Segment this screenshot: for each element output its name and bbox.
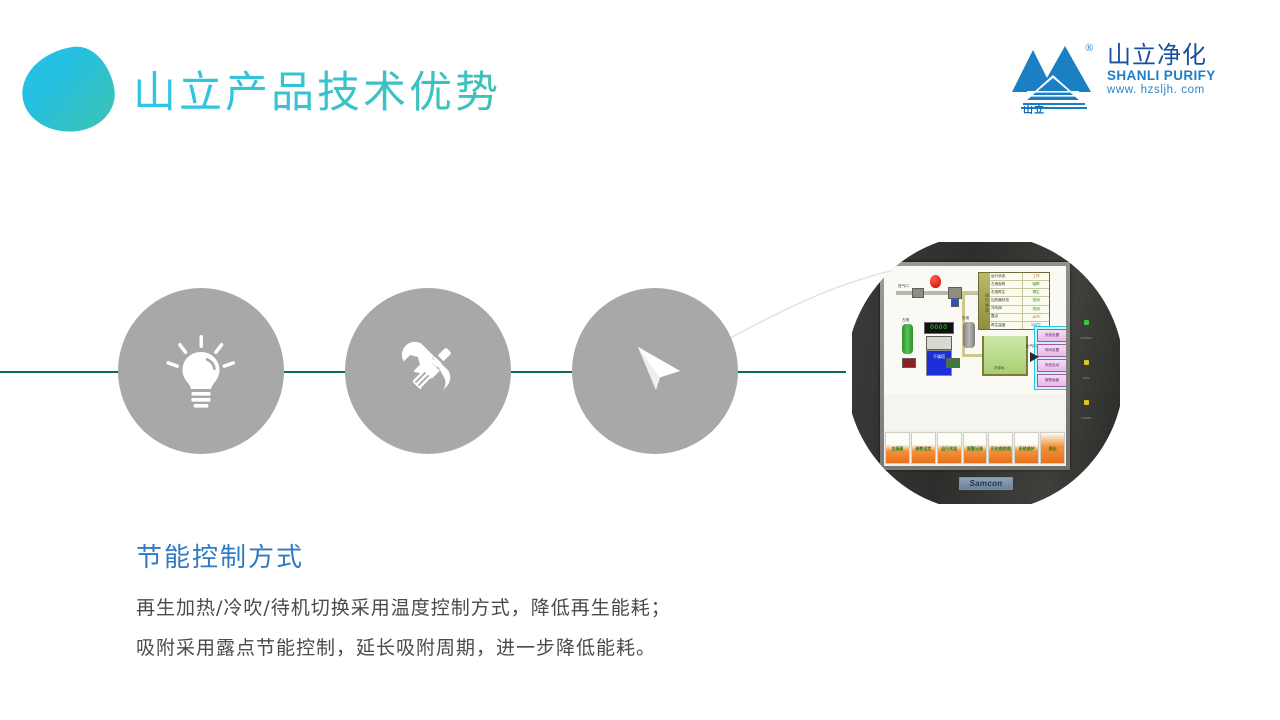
lcd-display: 0000 bbox=[924, 322, 954, 334]
wrench-screwdriver-icon bbox=[385, 328, 471, 414]
hmi-control-panel-photo: 进气口 运行状态 运行状态工作 左塔吸附吸附 右塔再生再生 加热器状态关闭 bbox=[846, 234, 1124, 512]
status-table-rows: 运行状态工作 左塔吸附吸附 右塔再生再生 加热器状态关闭 冷吹阀关闭 露点-40… bbox=[990, 273, 1049, 329]
double-mountain-mark bbox=[1007, 42, 1095, 112]
led-label: RUN bbox=[1083, 376, 1090, 380]
hmi-process-area: 进气口 运行状态 运行状态工作 左塔吸附吸附 右塔再生再生 加热器状态关闭 bbox=[884, 266, 1066, 394]
cursor-node[interactable] bbox=[572, 288, 738, 454]
bottom-button-label: 参数设定 bbox=[913, 445, 934, 453]
table-row: 左塔吸附吸附 bbox=[990, 281, 1049, 289]
row-value: 工作 bbox=[1022, 273, 1049, 280]
bottom-button-label: 运行状态 bbox=[939, 445, 960, 453]
panel-body: 进气口 运行状态 运行状态工作 左塔吸附吸附 右塔再生再生 加热器状态关闭 bbox=[852, 242, 1120, 504]
table-row: 运行状态工作 bbox=[990, 273, 1049, 281]
outlet-arrow-icon bbox=[1030, 352, 1039, 362]
table-row: 露点-40℃ bbox=[990, 314, 1049, 322]
panel-screen-bezel: 进气口 运行状态 运行状态工作 左塔吸附吸附 右塔再生再生 加热器状态关闭 bbox=[880, 262, 1070, 470]
bottom-button-label: 报警记录 bbox=[965, 445, 986, 453]
row-key: 冷吹阀 bbox=[990, 306, 1022, 313]
row-key: 左塔吸附 bbox=[990, 281, 1022, 288]
valve-bottom-left bbox=[902, 358, 916, 368]
bottom-button-label: 主画面 bbox=[887, 445, 908, 453]
label-gas-left: 左塔 bbox=[902, 318, 909, 323]
cursor-arrow-icon bbox=[612, 328, 698, 414]
valve-filter bbox=[948, 287, 962, 299]
bottom-button[interactable]: 系统维护 bbox=[1014, 432, 1039, 464]
led-indicator-group: POWER RUN ALARM bbox=[1078, 320, 1094, 440]
row-value: 吸附 bbox=[1022, 281, 1049, 288]
row-key: 运行状态 bbox=[990, 273, 1022, 280]
tank-right bbox=[963, 322, 975, 348]
label-gas-right: 右塔 bbox=[962, 316, 969, 321]
bezel-brand-label: Samcon bbox=[959, 477, 1013, 490]
bottom-button[interactable]: 历史趋势图 bbox=[988, 432, 1013, 464]
bottom-button-label: 退出 bbox=[1042, 445, 1063, 453]
bottom-button[interactable]: 参数设定 bbox=[911, 432, 936, 464]
logo-mark-caption: 山立 bbox=[1023, 101, 1045, 116]
table-row: 冷吹阀关闭 bbox=[990, 306, 1049, 314]
led-run: RUN bbox=[1078, 360, 1094, 384]
bottom-button-label: 系统维护 bbox=[1016, 445, 1037, 453]
tank-left bbox=[902, 324, 913, 354]
label-inlet: 进气口 bbox=[898, 284, 909, 289]
valve-bottom-right bbox=[946, 358, 960, 368]
status-table-title: 运行状态 bbox=[979, 273, 990, 329]
valve-actuator bbox=[951, 299, 959, 307]
hmi-bottom-toolbar[interactable]: 主画面 参数设定 运行状态 报警记录 历史趋势图 系统维护 退出 bbox=[884, 430, 1066, 466]
row-key: 右塔再生 bbox=[990, 289, 1022, 296]
led-alarm: ALARM bbox=[1078, 400, 1094, 424]
side-button[interactable]: 时间设置 bbox=[1037, 344, 1066, 357]
side-button[interactable]: 报警画面 bbox=[1037, 374, 1066, 387]
table-row: 右塔再生再生 bbox=[990, 289, 1049, 297]
led-power: POWER bbox=[1078, 320, 1094, 344]
bottom-button[interactable]: 运行状态 bbox=[937, 432, 962, 464]
table-row: 加热器状态关闭 bbox=[990, 297, 1049, 305]
section-subheading: 节能控制方式 bbox=[136, 537, 304, 574]
body-line-2: 吸附采用露点节能控制，延长吸附周期，进一步降低能耗。 bbox=[136, 628, 896, 668]
label-basin: 冷却水 bbox=[994, 366, 1005, 371]
logo-text-block: 山立净化 SHANLI PURIFY www. hzsljh. com bbox=[1107, 42, 1225, 97]
pressure-indicator-icon bbox=[930, 275, 941, 288]
controller-box bbox=[926, 336, 952, 350]
section-body: 再生加热/冷吹/待机切换采用温度控制方式，降低再生能耗； 吸附采用露点节能控制，… bbox=[136, 588, 896, 668]
bottom-button[interactable]: 主画面 bbox=[885, 432, 910, 464]
row-value: 再生 bbox=[1022, 289, 1049, 296]
lcd-value: 0000 bbox=[930, 325, 947, 331]
row-key: 露点 bbox=[990, 314, 1022, 321]
logo-company-en: SHANLI PURIFY bbox=[1107, 68, 1225, 83]
bottom-button[interactable]: 退出 bbox=[1040, 432, 1065, 464]
cooling-basin bbox=[982, 336, 1028, 376]
row-key: 加热器状态 bbox=[990, 297, 1022, 304]
bottom-button-label: 历史趋势图 bbox=[990, 445, 1011, 453]
page-title: 山立产品技术优势 bbox=[133, 58, 501, 120]
organic-blob-shape bbox=[17, 42, 120, 138]
row-key: 再生温度 bbox=[990, 322, 1022, 329]
tools-node[interactable] bbox=[345, 288, 511, 454]
registered-trademark-icon: ® bbox=[1085, 42, 1093, 54]
logo-company-cn: 山立净化 bbox=[1107, 42, 1225, 68]
led-label: ALARM bbox=[1081, 416, 1091, 420]
idea-node[interactable] bbox=[118, 288, 284, 454]
slide-root: 山立产品技术优势 ® 山立 山立净化 SHANLI PURIFY www. hz… bbox=[0, 0, 1280, 720]
company-logo: ® 山立 山立净化 SHANLI PURIFY www. hzsljh. com bbox=[1007, 38, 1222, 118]
led-label: POWER bbox=[1080, 336, 1091, 340]
lightbulb-icon bbox=[158, 328, 244, 414]
row-value: 关闭 bbox=[1022, 297, 1049, 304]
logo-website: www. hzsljh. com bbox=[1107, 83, 1225, 97]
label-outlet: 出气口 bbox=[1026, 344, 1037, 349]
bottom-button[interactable]: 报警记录 bbox=[963, 432, 988, 464]
hmi-screen[interactable]: 进气口 运行状态 运行状态工作 左塔吸附吸附 右塔再生再生 加热器状态关闭 bbox=[884, 266, 1066, 466]
side-button[interactable]: 系统设置 bbox=[1037, 329, 1066, 342]
body-line-1: 再生加热/冷吹/待机切换采用温度控制方式，降低再生能耗； bbox=[136, 588, 896, 628]
side-button[interactable]: 系统启动 bbox=[1037, 359, 1066, 372]
row-value: -40℃ bbox=[1022, 314, 1049, 321]
row-value: 关闭 bbox=[1022, 306, 1049, 313]
status-table: 运行状态 运行状态工作 左塔吸附吸附 右塔再生再生 加热器状态关闭 冷吹阀关闭 … bbox=[978, 272, 1050, 330]
valve-inlet bbox=[912, 288, 924, 298]
